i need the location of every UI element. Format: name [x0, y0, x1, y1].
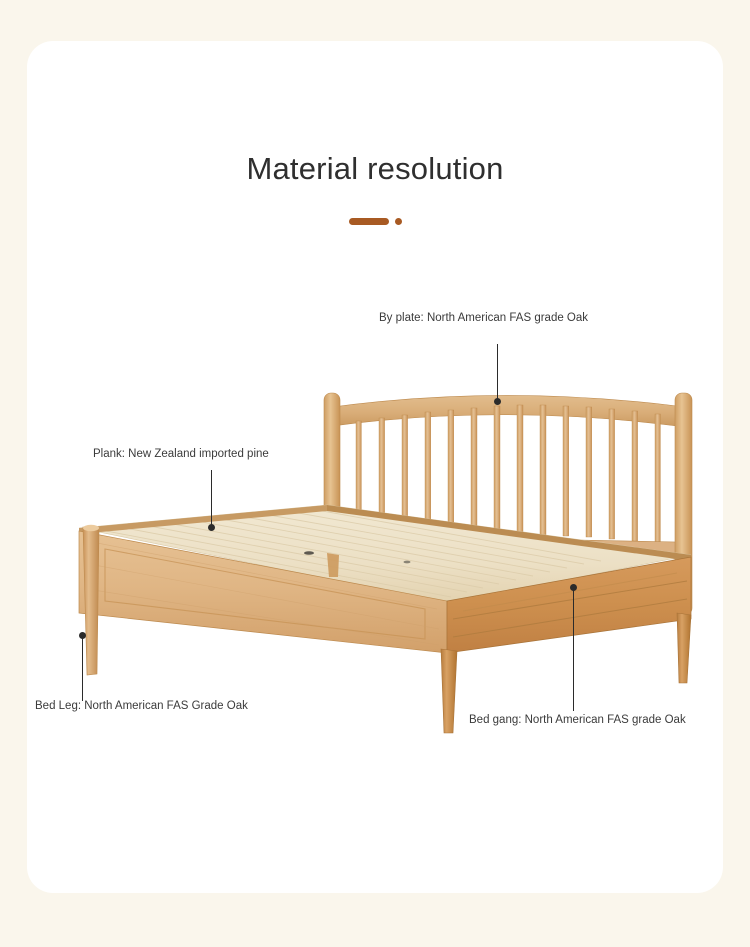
annotation-by-plate: By plate: North American FAS grade Oak [379, 311, 624, 326]
leader-dot-plank [208, 524, 215, 531]
leader-dot-by-plate [494, 398, 501, 405]
front-left-leg [83, 525, 99, 675]
annotation-plank: Plank: New Zealand imported pine [93, 447, 333, 462]
footboard-rail [447, 557, 691, 653]
headboard-group [324, 393, 692, 615]
leader-dot-bed-leg [79, 632, 86, 639]
leader-line-bed-leg [82, 638, 83, 701]
content-card: Material resolution [27, 41, 723, 893]
divider-dot-icon [395, 218, 402, 225]
rear-left-leg [327, 553, 339, 577]
leader-line-by-plate [497, 344, 498, 402]
title-divider [27, 218, 723, 225]
leader-line-plank [211, 470, 212, 527]
leader-dot-bed-gang [570, 584, 577, 591]
leader-line-bed-gang [573, 587, 574, 711]
rear-right-leg [677, 613, 691, 683]
annotation-bed-leg: Bed Leg: North American FAS Grade Oak [35, 699, 250, 714]
front-center-leg [441, 649, 457, 733]
side-rail-left [79, 531, 447, 653]
divider-bar-icon [349, 218, 389, 225]
page-title: Material resolution [27, 151, 723, 187]
pine-slat-platform [79, 505, 691, 603]
annotation-bed-gang: Bed gang: North American FAS grade Oak [469, 713, 689, 728]
infographic-page: Material resolution [0, 0, 750, 947]
